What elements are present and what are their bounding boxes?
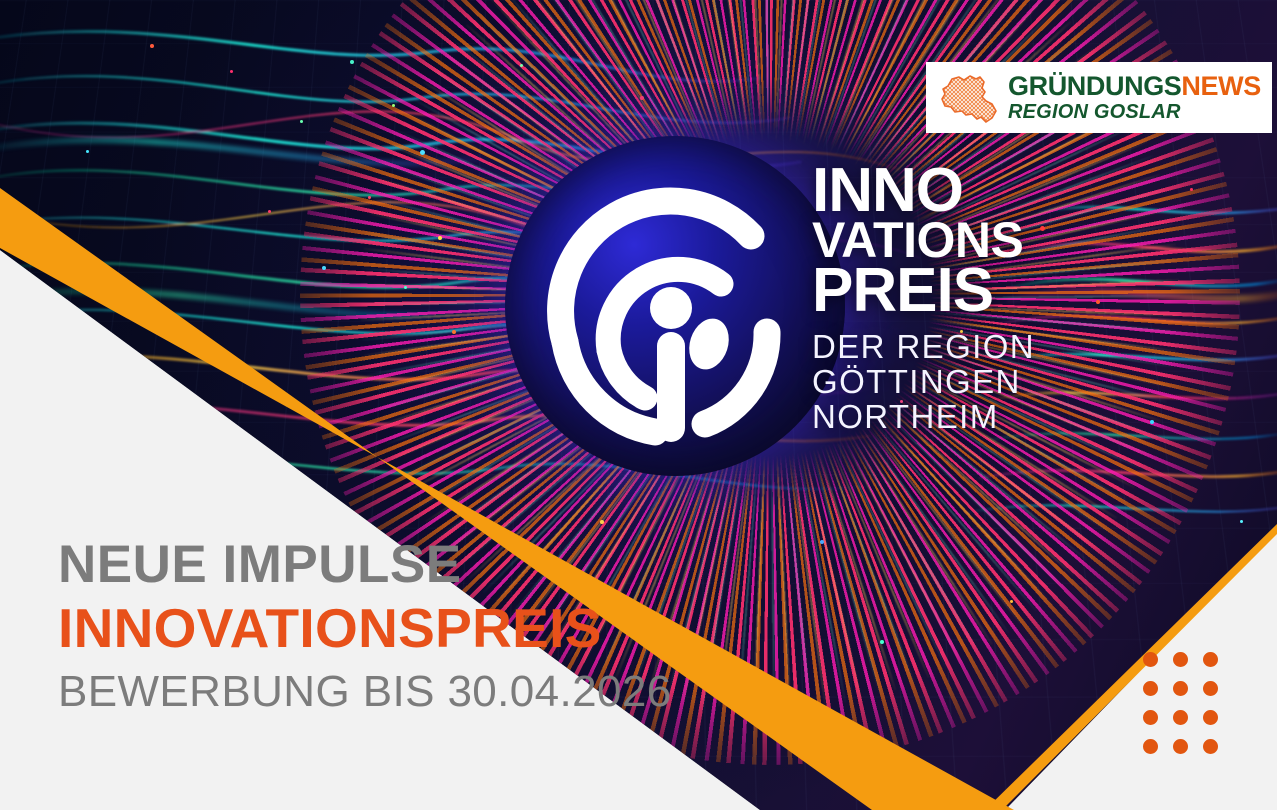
logo-name-row: GRÜNDUNGSNEWS: [1008, 73, 1261, 100]
wordmark-line-3: PREIS: [812, 264, 1082, 317]
wordmark-subtitle-line-3: NORTHEIM: [812, 400, 1082, 435]
logo-name-news: NEWS: [1181, 71, 1260, 101]
dot: [1173, 739, 1188, 754]
dot: [1203, 739, 1218, 754]
headline-line-1: NEUE IMPULSE: [58, 538, 672, 592]
banner-canvas: INNO VATIONS PREIS DER REGION GÖTTINGEN …: [0, 0, 1277, 810]
dot: [1173, 681, 1188, 696]
dot: [1143, 710, 1158, 725]
dot: [1143, 739, 1158, 754]
headline-block: NEUE IMPULSE INNOVATIONSPREIS BEWERBUNG …: [58, 538, 672, 716]
dot: [1173, 652, 1188, 667]
wordmark-subtitle: DER REGION GÖTTINGEN NORTHEIM: [812, 330, 1082, 435]
wordmark-subtitle-line-1: DER REGION: [812, 330, 1082, 365]
decorative-dot-grid: [1143, 652, 1233, 768]
dot: [1173, 710, 1188, 725]
innovationspreis-emblem: [505, 136, 845, 476]
wordmark-line-1: INNO: [812, 164, 1082, 217]
gruendungsnews-logo[interactable]: GRÜNDUNGSNEWS REGION GOSLAR: [926, 62, 1272, 133]
logo-name-gruendungs: GRÜNDUNGS: [1008, 71, 1181, 101]
logo-subtitle: REGION GOSLAR: [1008, 102, 1261, 122]
headline-deadline: BEWERBUNG BIS 30.04.2026: [58, 669, 672, 716]
innovationspreis-wordmark: INNO VATIONS PREIS DER REGION GÖTTINGEN …: [812, 164, 1082, 435]
dot: [1143, 681, 1158, 696]
dot: [1203, 681, 1218, 696]
wordmark-subtitle-line-2: GÖTTINGEN: [812, 365, 1082, 400]
goslar-region-map-icon: [936, 70, 1002, 126]
logo-wordmark: GRÜNDUNGSNEWS REGION GOSLAR: [1008, 73, 1261, 122]
headline-line-2: INNOVATIONSPREIS: [58, 600, 672, 657]
dot: [1143, 652, 1158, 667]
dot: [1203, 652, 1218, 667]
dot: [1203, 710, 1218, 725]
